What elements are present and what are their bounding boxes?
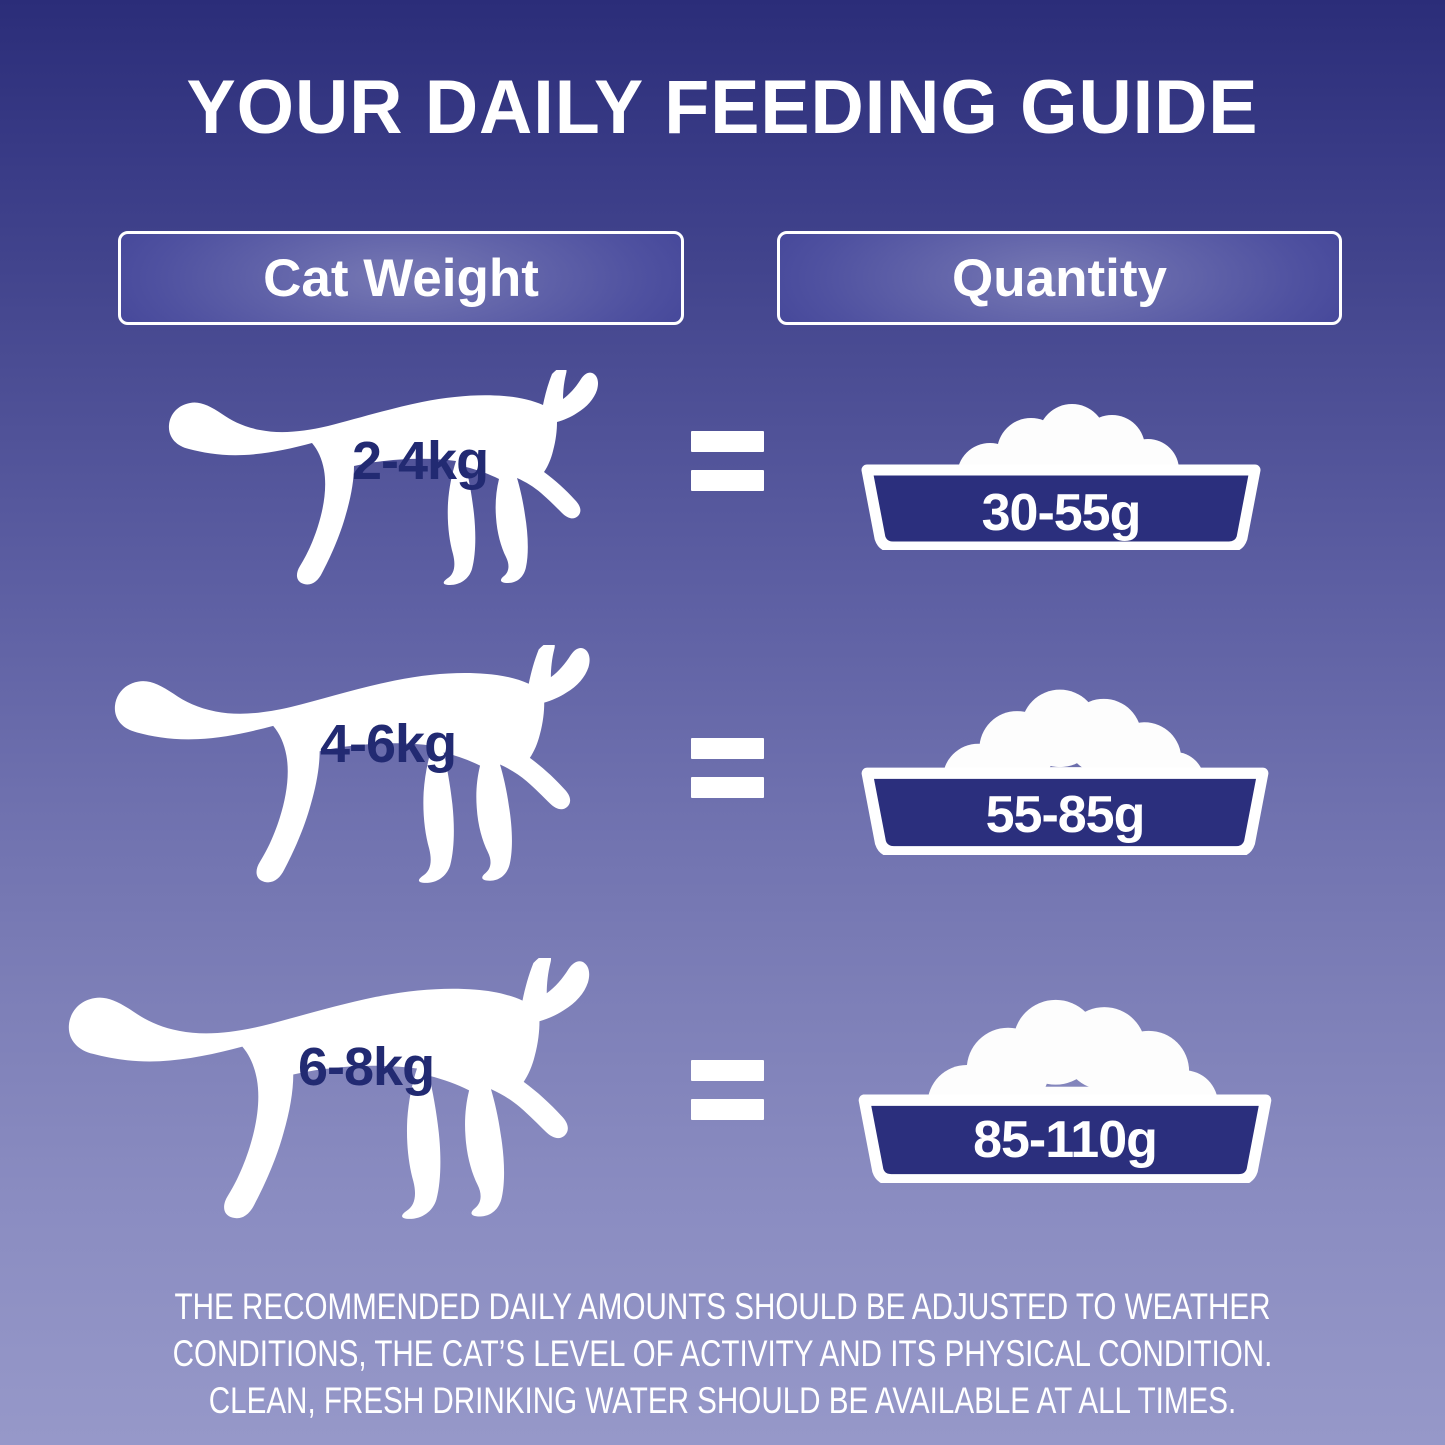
equals-bar-top	[691, 738, 764, 759]
equals-icon	[691, 738, 764, 798]
cat-weight-label: 2-4kg	[352, 430, 488, 492]
food-bowl-medium: 55-85g	[856, 665, 1274, 855]
column-header-cat-weight: Cat Weight	[118, 231, 684, 325]
column-header-quantity: Quantity	[777, 231, 1342, 325]
food-bowl-small: 30-55g	[856, 390, 1266, 550]
equals-bar-bottom	[691, 777, 764, 798]
equals-icon	[691, 1060, 764, 1120]
column-header-quantity-label: Quantity	[952, 248, 1167, 309]
disclaimer-line-3: CLEAN, FRESH DRINKING WATER SHOULD BE AV…	[145, 1377, 1301, 1424]
feeding-row: 4-6kg 55-85g	[0, 640, 1445, 910]
quantity-label: 55-85g	[856, 785, 1274, 845]
equals-bar-top	[691, 431, 764, 452]
disclaimer-line-1: THE RECOMMENDED DAILY AMOUNTS SHOULD BE …	[145, 1283, 1301, 1330]
cat-silhouette-medium: 4-6kg	[105, 645, 625, 883]
equals-icon	[691, 431, 764, 491]
column-header-cat-weight-label: Cat Weight	[263, 248, 539, 309]
cat-silhouette-large: 6-8kg	[58, 958, 628, 1219]
quantity-label: 85-110g	[853, 1110, 1277, 1170]
food-bowl-large: 85-110g	[853, 978, 1277, 1183]
disclaimer-line-2: CONDITIONS, THE CAT’S LEVEL OF ACTIVITY …	[145, 1330, 1301, 1377]
equals-bar-top	[691, 1060, 764, 1081]
equals-bar-bottom	[691, 1099, 764, 1120]
feeding-row: 6-8kg 85-110g	[0, 950, 1445, 1240]
cat-weight-label: 6-8kg	[298, 1036, 434, 1098]
disclaimer: THE RECOMMENDED DAILY AMOUNTS SHOULD BE …	[0, 1283, 1445, 1424]
feeding-guide-poster: YOUR DAILY FEEDING GUIDE Cat Weight Quan…	[0, 0, 1445, 1445]
cat-silhouette-small: 2-4kg	[160, 370, 630, 585]
feeding-row: 2-4kg 30-55g	[0, 360, 1445, 610]
equals-bar-bottom	[691, 470, 764, 491]
page-title: YOUR DAILY FEEDING GUIDE	[22, 64, 1424, 151]
cat-weight-label: 4-6kg	[320, 713, 456, 775]
quantity-label: 30-55g	[856, 483, 1266, 543]
